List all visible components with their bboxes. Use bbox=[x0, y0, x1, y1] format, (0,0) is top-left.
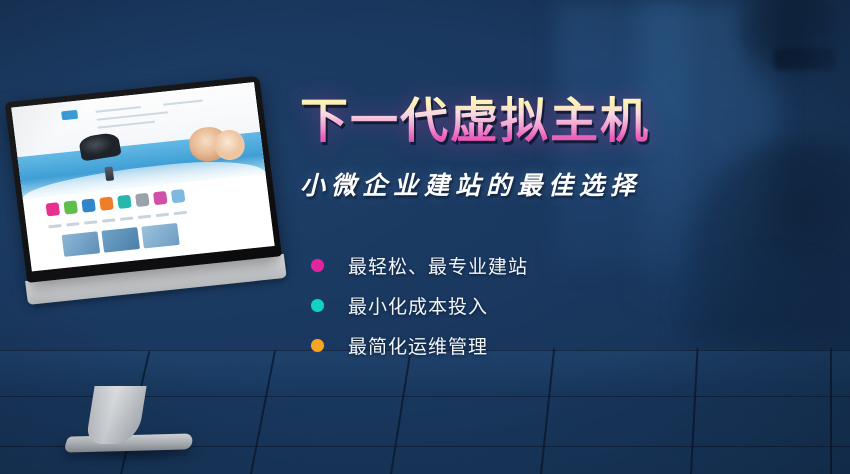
website-thumbnail bbox=[141, 223, 180, 249]
app-label bbox=[48, 224, 61, 228]
website-nav-line bbox=[95, 106, 141, 113]
app-label bbox=[174, 211, 187, 215]
app-icon bbox=[171, 189, 186, 203]
website-nav-line bbox=[97, 120, 155, 128]
website-nav-line bbox=[96, 111, 168, 121]
app-icon bbox=[117, 195, 132, 209]
page-subtitle: 小微企业建站的最佳选择 bbox=[300, 166, 820, 202]
monitor-bezel bbox=[5, 76, 282, 283]
list-item: 最轻松、最专业建站 bbox=[300, 246, 820, 286]
app-icon bbox=[63, 200, 78, 214]
bullet-dot-icon bbox=[311, 339, 324, 352]
feature-list: 最轻松、最专业建站 最小化成本投入 最简化运维管理 bbox=[300, 246, 820, 366]
website-mockup bbox=[11, 82, 274, 271]
app-icon bbox=[99, 197, 114, 211]
app-label bbox=[120, 217, 133, 221]
floor-vertical-line bbox=[830, 348, 832, 474]
feature-label: 最简化运维管理 bbox=[348, 332, 488, 359]
monitor-screen bbox=[11, 82, 274, 271]
glasses-icon bbox=[774, 48, 836, 70]
app-label bbox=[102, 219, 115, 223]
website-nav-line bbox=[163, 99, 203, 105]
app-label bbox=[84, 221, 97, 225]
bullet-dot-wrap bbox=[300, 339, 334, 352]
website-thumbnail bbox=[102, 227, 141, 253]
app-label bbox=[138, 215, 151, 219]
app-icon bbox=[135, 193, 150, 207]
bullet-dot-wrap bbox=[300, 299, 334, 312]
promo-banner: 下一代虚拟主机 小微企业建站的最佳选择 最轻松、最专业建站 最小化成本投入 最简… bbox=[0, 0, 850, 474]
app-icon bbox=[153, 191, 168, 205]
feature-label: 最小化成本投入 bbox=[348, 292, 488, 319]
website-thumbnail bbox=[62, 231, 101, 257]
bullet-dot-icon bbox=[311, 259, 324, 272]
app-icon bbox=[45, 202, 60, 216]
list-item: 最小化成本投入 bbox=[300, 286, 820, 326]
app-icon bbox=[81, 198, 96, 212]
app-label bbox=[156, 213, 169, 217]
copy-block: 下一代虚拟主机 小微企业建站的最佳选择 最轻松、最专业建站 最小化成本投入 最简… bbox=[300, 96, 820, 366]
bullet-dot-icon bbox=[311, 299, 324, 312]
page-title: 下一代虚拟主机 bbox=[300, 96, 820, 148]
website-thumbnail-row bbox=[62, 223, 180, 257]
app-label bbox=[66, 222, 79, 226]
feature-label: 最轻松、最专业建站 bbox=[348, 252, 528, 279]
list-item: 最简化运维管理 bbox=[300, 326, 820, 366]
desktop-monitor-icon bbox=[6, 86, 294, 396]
bullet-dot-wrap bbox=[300, 259, 334, 272]
website-logo bbox=[61, 110, 78, 121]
